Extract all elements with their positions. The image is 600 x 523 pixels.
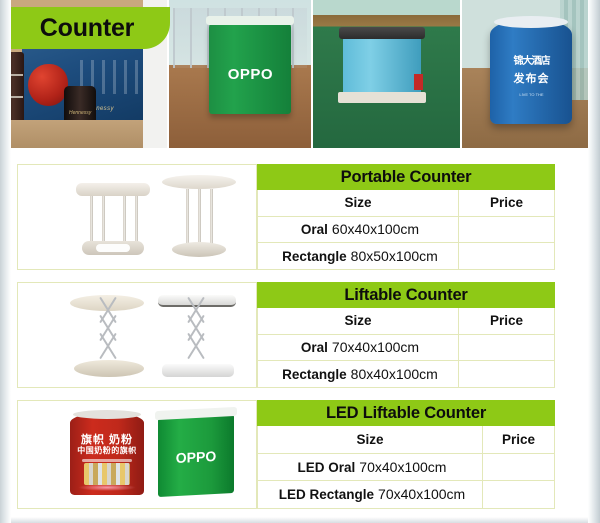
column-header-price: Price xyxy=(459,313,554,328)
page-title: Counter xyxy=(40,16,134,41)
row-size-dimensions: 70x40x100cm xyxy=(332,339,419,355)
column-header-price: Price xyxy=(483,432,554,447)
row-size-name: Rectangle xyxy=(282,367,347,382)
oppo-logo-text: OPPO xyxy=(158,447,234,467)
section-heading: Liftable Counter xyxy=(257,282,555,308)
row-size-name: Rectangle xyxy=(282,249,347,264)
page-left-edge xyxy=(0,0,11,523)
table-row: Oral 60x40x100cm xyxy=(257,217,555,244)
counter-subhead-text: 发布会 xyxy=(490,70,572,86)
table-row: LED Rectangle 70x40x100cm xyxy=(257,481,555,509)
table-row: Oral 70x40x100cm xyxy=(257,335,555,362)
row-size-name: Oral xyxy=(301,222,328,237)
table-header-row: Size Price xyxy=(257,308,555,335)
table-row: Rectangle 80x40x100cm xyxy=(257,361,555,388)
row-size-name: LED Rectangle xyxy=(279,487,374,502)
section-heading: Portable Counter xyxy=(257,164,555,190)
led-counter-subhead: 中国奶粉的旗帜 xyxy=(70,445,144,456)
scissor-mechanism xyxy=(180,307,214,363)
table-row: Rectangle 80x50x100cm xyxy=(257,243,555,270)
column-header-size: Size xyxy=(258,432,482,447)
oppo-green-counter-photo: OPPO xyxy=(169,0,311,148)
page-title-banner: Counter xyxy=(4,7,170,49)
page-bottom-edge xyxy=(0,517,600,523)
green-counter: OPPO xyxy=(209,22,291,114)
counter-tagline-text: LIVE TO THE xyxy=(490,92,572,97)
wood-floor xyxy=(0,120,167,148)
counter-headline-text: 锦大酒店 xyxy=(490,52,572,67)
liftable-counter-image xyxy=(17,282,257,388)
section-heading: LED Liftable Counter xyxy=(257,400,555,426)
row-size-dimensions: 80x40x100cm xyxy=(351,366,438,382)
blue-round-counter: LIVE TO THE 锦大酒店 发布会 xyxy=(490,20,572,124)
liftable-counter-table: Liftable Counter Size Price Oral 70x40x1… xyxy=(257,282,555,388)
product-spec-area: Portable Counter Size Price Oral 60x40x1… xyxy=(0,150,600,523)
portable-counter-rect xyxy=(76,183,150,255)
column-header-size: Size xyxy=(258,313,458,328)
portable-counter-round xyxy=(162,175,236,257)
row-size-dimensions: 70x40x100cm xyxy=(359,459,446,475)
led-liftable-counter-table: LED Liftable Counter Size Price LED Oral… xyxy=(257,400,555,509)
product-section-liftable-counter: Liftable Counter Size Price Oral 70x40x1… xyxy=(17,282,555,388)
page-root: Hennessy Hennessy OPPO xyxy=(0,0,600,523)
liftable-counter-rect xyxy=(158,295,238,377)
led-oval-counter-red: 旗帜 奶粉 中国奶粉的旗帜 xyxy=(70,413,144,495)
scissor-mechanism xyxy=(92,307,126,363)
row-size-name: Oral xyxy=(301,340,328,355)
product-section-led-liftable-counter: 旗帜 奶粉 中国奶粉的旗帜 OPPO LED Liftable Counter xyxy=(17,400,555,509)
portable-counter-table: Portable Counter Size Price Oral 60x40x1… xyxy=(257,164,555,270)
product-section-portable-counter: Portable Counter Size Price Oral 60x40x1… xyxy=(17,164,555,270)
table-header-row: Size Price xyxy=(257,426,555,454)
column-header-price: Price xyxy=(459,195,554,210)
liftable-counter-oval xyxy=(70,295,148,377)
row-size-dimensions: 80x50x100cm xyxy=(351,248,438,264)
row-size-dimensions: 60x40x100cm xyxy=(332,221,419,237)
table-header-row: Size Price xyxy=(257,190,555,217)
gold-medallion-icon xyxy=(36,88,62,99)
blue-round-counter-photo: LIVE TO THE 锦大酒店 发布会 xyxy=(462,0,600,148)
table-row: LED Oral 70x40x100cm xyxy=(257,454,555,482)
led-liftable-counter-image: 旗帜 奶粉 中国奶粉的旗帜 OPPO xyxy=(17,400,257,509)
blue-counter xyxy=(343,36,421,94)
portable-counter-image xyxy=(17,164,257,270)
row-size-name: LED Oral xyxy=(298,460,356,475)
product-cans-graphic xyxy=(84,463,130,485)
podium-brand-text: Hennessy xyxy=(69,110,91,116)
page-right-edge xyxy=(588,0,600,523)
oppo-logo-text: OPPO xyxy=(209,66,291,83)
blue-counter-green-floor-photo xyxy=(313,0,461,148)
led-rect-counter-green: OPPO xyxy=(158,413,234,497)
column-header-size: Size xyxy=(258,195,458,210)
row-size-dimensions: 70x40x100cm xyxy=(378,486,465,502)
